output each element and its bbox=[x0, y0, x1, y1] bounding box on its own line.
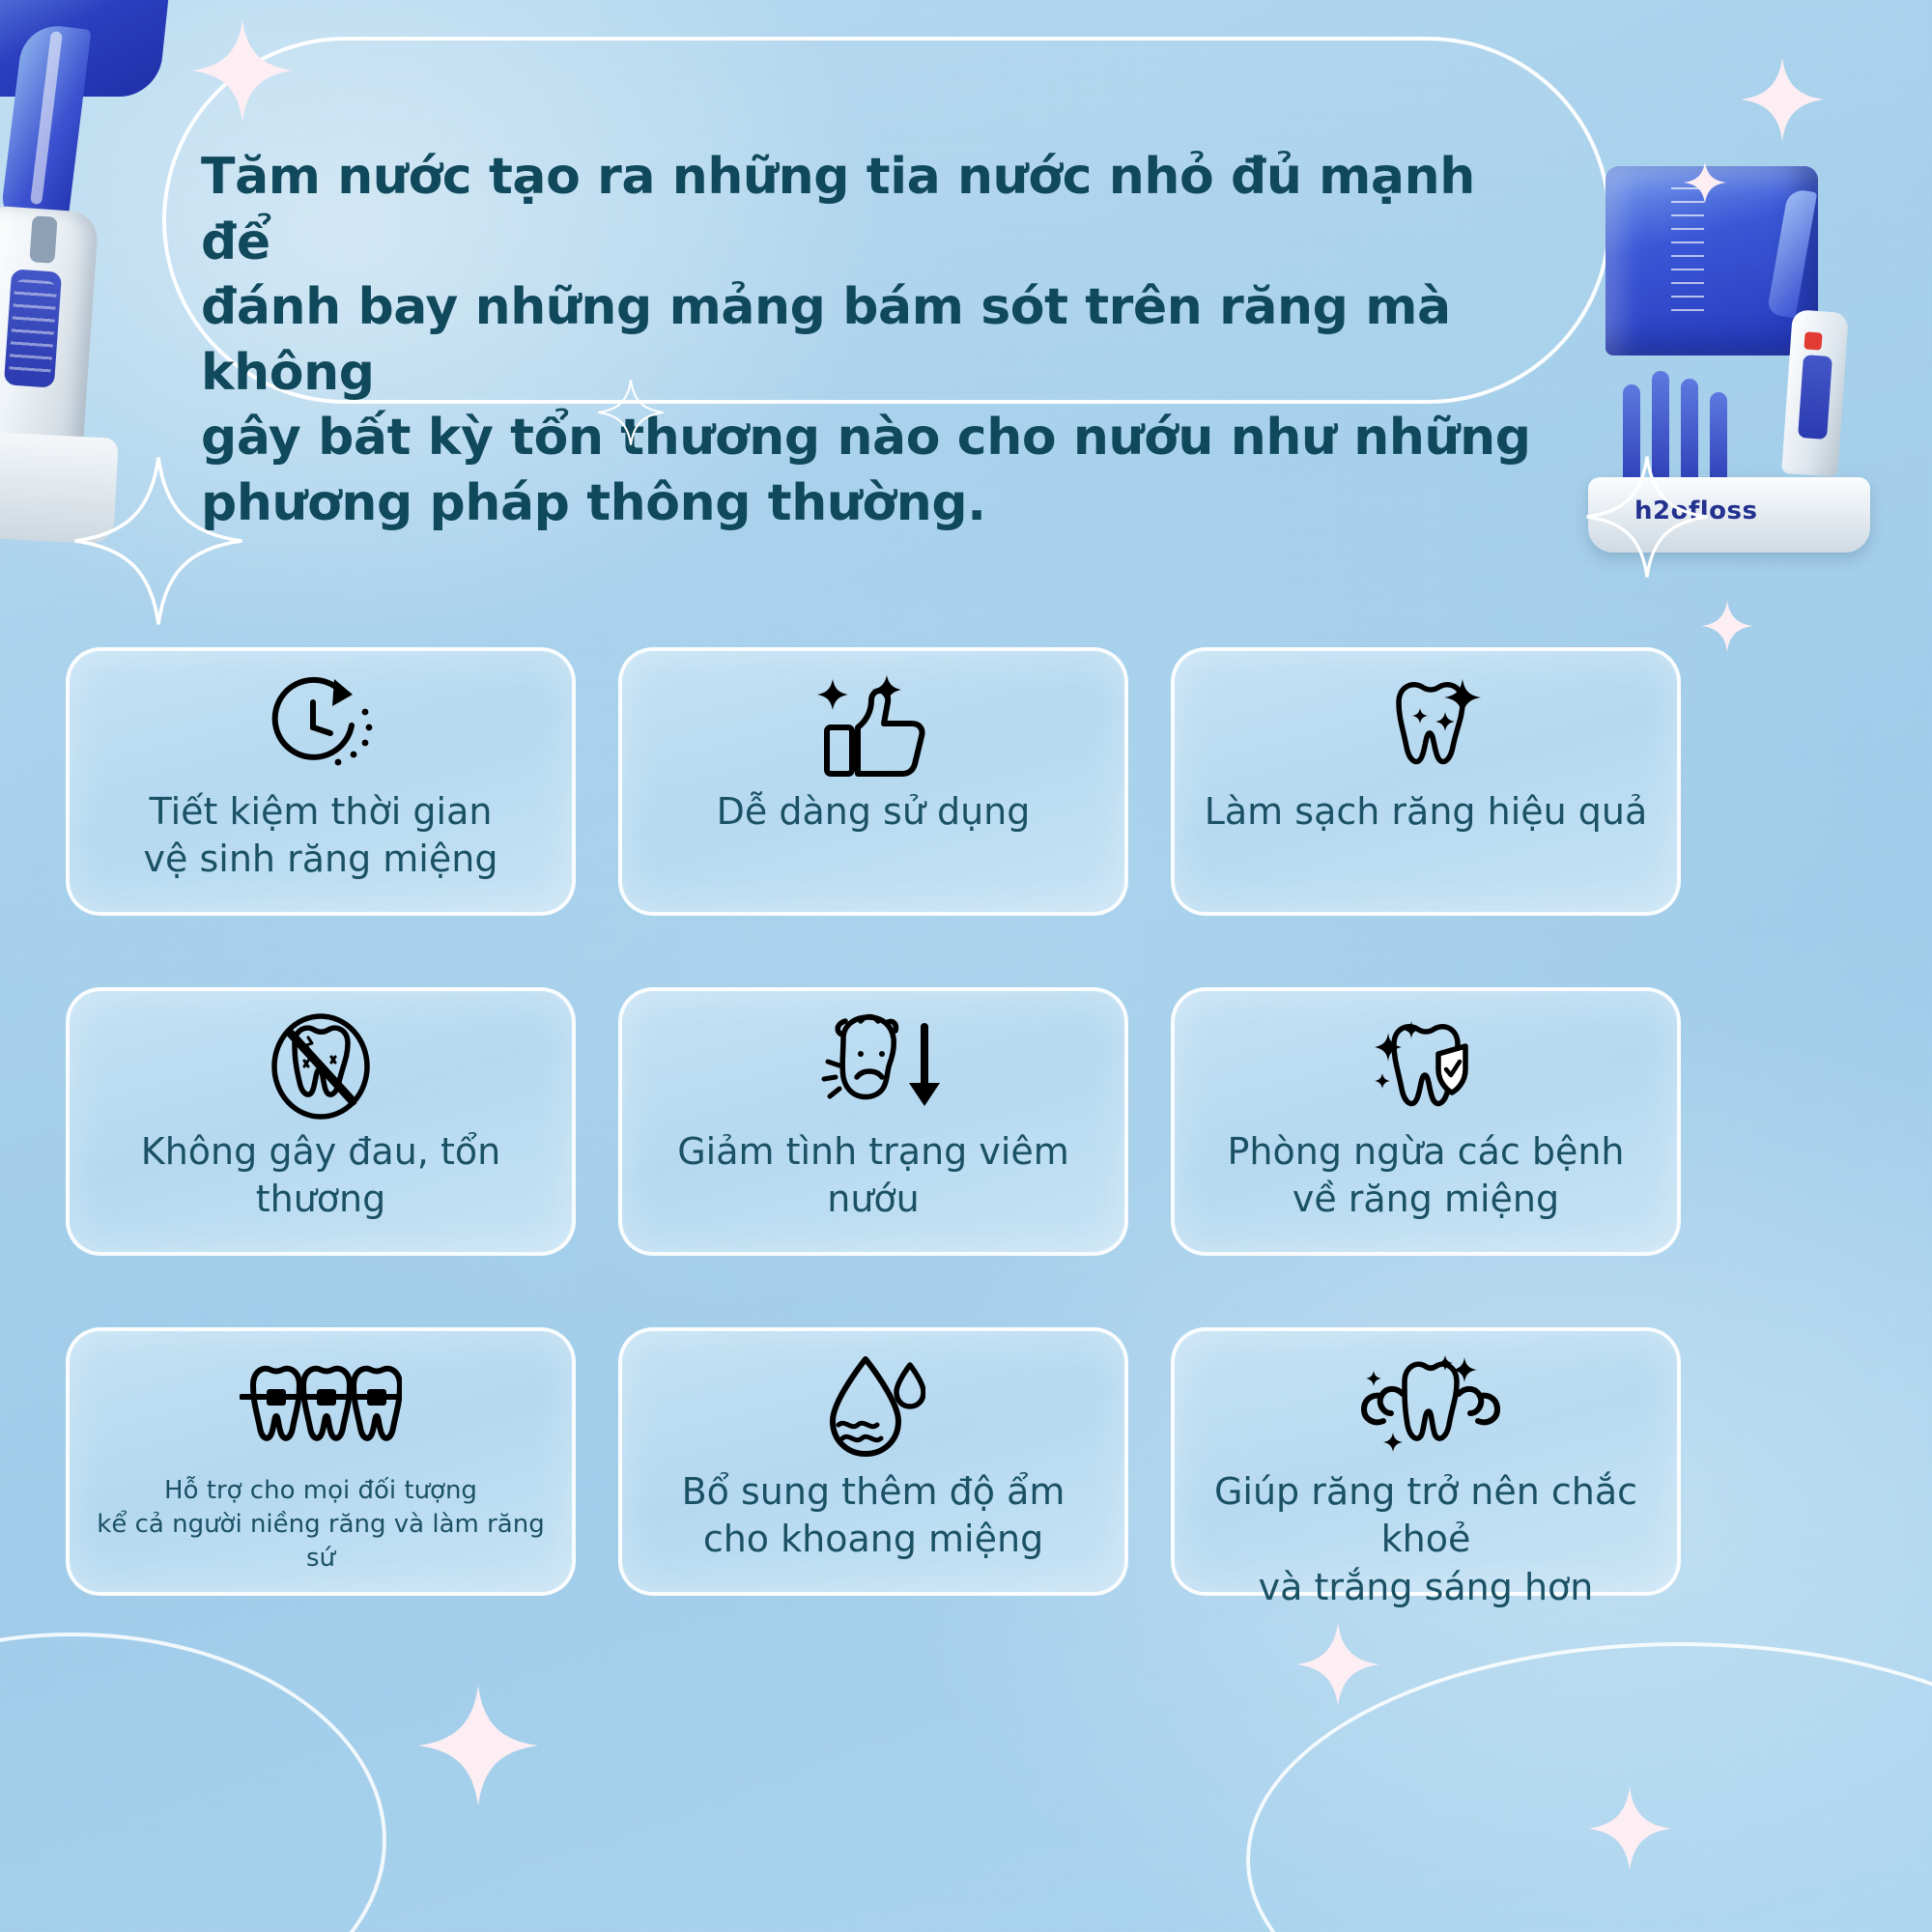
brand-logo: h2ofloss bbox=[1634, 497, 1758, 526]
tooth-shield-icon bbox=[1365, 1014, 1487, 1119]
infographic-canvas: Tăm nước tạo ra những tia nước nhỏ đủ mạ… bbox=[0, 0, 1932, 1932]
feature-card-label: Hỗ trợ cho mọi đối tượng kể cả người niề… bbox=[70, 1474, 572, 1575]
thumbs-up-sparkle-icon bbox=[815, 674, 931, 779]
sparkle-icon bbox=[1700, 599, 1754, 653]
clock-rotate-icon bbox=[259, 674, 383, 779]
toothache-down-arrow-icon bbox=[801, 1014, 946, 1119]
water-drop-icon bbox=[821, 1354, 925, 1459]
braces-icon bbox=[240, 1354, 402, 1459]
feature-card[interactable]: Làm sạch răng hiệu quả bbox=[1171, 647, 1681, 916]
sparkle-icon bbox=[1739, 56, 1826, 143]
strong-tooth-icon bbox=[1350, 1354, 1501, 1459]
sparkling-tooth-icon bbox=[1366, 674, 1486, 779]
product-image-countertop-flosser: h2ofloss bbox=[1588, 166, 1878, 553]
feature-card[interactable]: Dễ dàng sử dụng bbox=[618, 647, 1128, 916]
headline-text: Tăm nước tạo ra những tia nước nhỏ đủ mạ… bbox=[201, 145, 1553, 537]
feature-card[interactable]: Bổ sung thêm độ ẩm cho khoang miệng bbox=[618, 1327, 1128, 1596]
feature-card-label: Giúp răng trở nên chắc khoẻ và trắng sán… bbox=[1175, 1468, 1677, 1611]
feature-card[interactable]: Giúp răng trở nên chắc khoẻ và trắng sán… bbox=[1171, 1327, 1681, 1596]
feature-card-label: Không gây đau, tổn thương bbox=[70, 1128, 572, 1224]
decorative-ellipse-left bbox=[0, 1633, 386, 1932]
feature-card-grid: Tiết kiệm thời gian vệ sinh răng miệng D… bbox=[66, 647, 1866, 1596]
sparkle-icon bbox=[1294, 1621, 1381, 1708]
feature-card-label: Dễ dàng sử dụng bbox=[699, 788, 1048, 836]
feature-card[interactable]: Hỗ trợ cho mọi đối tượng kể cả người niề… bbox=[66, 1327, 576, 1596]
feature-card-label: Làm sạch răng hiệu quả bbox=[1187, 788, 1665, 836]
feature-card[interactable]: Tiết kiệm thời gian vệ sinh răng miệng bbox=[66, 647, 576, 916]
feature-card-label: Giảm tình trạng viêm nướu bbox=[622, 1128, 1124, 1224]
feature-card-label: Phòng ngừa các bệnh về răng miệng bbox=[1209, 1128, 1641, 1224]
sparkle-icon bbox=[415, 1683, 541, 1808]
feature-card[interactable]: Không gây đau, tổn thương bbox=[66, 987, 576, 1256]
feature-card[interactable]: Phòng ngừa các bệnh về răng miệng bbox=[1171, 987, 1681, 1256]
sparkle-icon bbox=[1586, 1785, 1673, 1872]
decorative-ellipse-right bbox=[1246, 1642, 1932, 1932]
no-pain-tooth-icon bbox=[264, 1014, 378, 1119]
product-image-handheld-flosser bbox=[0, 0, 203, 599]
feature-card-label: Bổ sung thêm độ ẩm cho khoang miệng bbox=[665, 1468, 1083, 1564]
feature-card-label: Tiết kiệm thời gian vệ sinh răng miệng bbox=[127, 788, 516, 884]
feature-card[interactable]: Giảm tình trạng viêm nướu bbox=[618, 987, 1128, 1256]
